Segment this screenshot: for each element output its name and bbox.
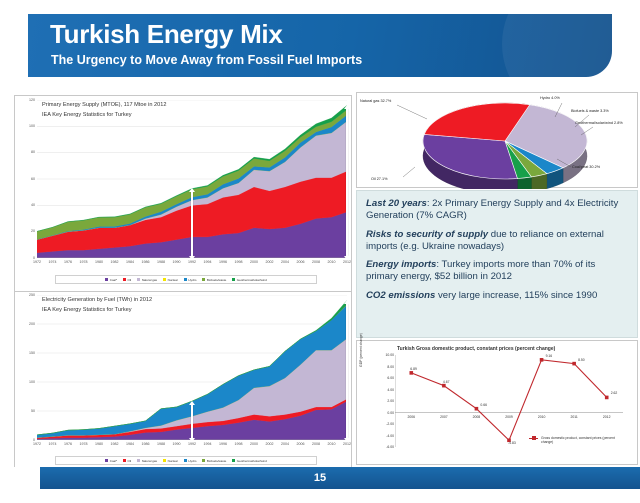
legend-item: Hydro <box>184 278 197 282</box>
legend-label: Hydro <box>188 278 196 282</box>
legend-item: Nuclear <box>163 278 178 282</box>
legend-swatch <box>202 459 205 462</box>
measurement-arrow-end <box>346 109 348 256</box>
legend-item: Oil <box>123 459 131 463</box>
key-point: CO2 emissions very large increase, 115% … <box>366 290 628 302</box>
page-title: Turkish Energy Mix <box>50 19 283 50</box>
legend-swatch <box>105 278 108 281</box>
primary-energy-supply-chart: Primary Energy Supply (MTOE), 117 Mtoe i… <box>14 95 352 293</box>
gdp-y-tick-label: 8.00 <box>387 365 394 369</box>
legend-swatch <box>163 459 166 462</box>
measurement-arrow-start <box>191 192 193 256</box>
measurement-arrow-start <box>191 405 193 438</box>
y-tick-label: 50 <box>31 409 35 413</box>
gdp-chart-legend: Gross domestic product, constant prices … <box>529 436 615 445</box>
legend-label: Nuclear <box>168 278 178 282</box>
gdp-legend-label: Gross domestic product, constant prices … <box>541 436 615 445</box>
slide: Turkish Energy Mix The Urgency to Move A… <box>0 0 640 503</box>
gdp-y-tick-label: 2.00 <box>387 399 394 403</box>
x-tick-label: 2004 <box>280 442 290 446</box>
x-tick-label: 2002 <box>265 442 275 446</box>
gdp-y-axis-label: GDP (percent change) <box>359 321 363 379</box>
primary-chart-legend: Coal*OilNatural gasNuclearHydroBiofuels/… <box>55 275 317 284</box>
gdp-x-tick-label: 2007 <box>436 415 452 419</box>
x-tick-label: 2008 <box>311 260 321 264</box>
legend-item: Natural gas <box>137 278 157 282</box>
page-subtitle: The Urgency to Move Away from Fossil Fue… <box>51 53 362 67</box>
x-tick-label: 1990 <box>172 260 182 264</box>
key-point-lead: Energy imports <box>366 259 436 270</box>
gdp-x-tick-label: 2010 <box>534 415 550 419</box>
pie-slice-label: Biofuels & waste 3.3% <box>571 109 609 113</box>
primary-y-axis: 120100806040200 <box>15 100 37 258</box>
pie-graphic: Natural gas 32.7%Hydro 4.0%Biofuels & wa… <box>357 93 639 189</box>
x-tick-label: 2012 <box>342 442 352 446</box>
legend-swatch <box>202 278 205 281</box>
y-tick-label: 250 <box>29 293 35 297</box>
legend-swatch <box>137 278 140 281</box>
x-tick-label: 1998 <box>234 260 244 264</box>
x-tick-label: 1988 <box>156 442 166 446</box>
pie-slice-label: Coal/peat 30.2% <box>572 165 600 169</box>
legend-swatch <box>184 278 187 281</box>
electricity-generation-chart: Electricity Generation by Fuel (TWh) in … <box>14 291 352 471</box>
legend-item: Biofuels/waste <box>202 459 226 463</box>
legend-label: Biofuels/waste <box>207 459 226 463</box>
x-tick-label: 1998 <box>234 442 244 446</box>
legend-label: Oil <box>128 459 132 463</box>
x-tick-label: 1984 <box>125 442 135 446</box>
legend-swatch <box>232 278 235 281</box>
legend-item: Oil <box>123 278 131 282</box>
key-point-text: very large increase, 115% since 1990 <box>438 290 597 301</box>
x-tick-label: 1972 <box>32 442 42 446</box>
pie-slice-label: Natural gas 32.7% <box>360 99 391 103</box>
gdp-x-tick-label: 2006 <box>403 415 419 419</box>
x-tick-label: 2006 <box>296 442 306 446</box>
x-tick-label: 2010 <box>327 260 337 264</box>
legend-swatch <box>105 459 108 462</box>
gdp-y-tick-label: 10.00 <box>386 353 395 357</box>
pie-slice-label: Oil 27.1% <box>371 177 387 181</box>
x-tick-label: 2004 <box>280 260 290 264</box>
y-tick-label: 40 <box>31 203 35 207</box>
y-tick-label: 0 <box>33 256 35 260</box>
gdp-y-tick-label: 4.00 <box>387 388 394 392</box>
gdp-y-tick-label: 0.00 <box>387 411 394 415</box>
legend-item: Hydro <box>184 459 197 463</box>
x-tick-label: 2008 <box>311 442 321 446</box>
y-tick-label: 120 <box>29 98 35 102</box>
legend-label: Oil <box>128 278 132 282</box>
key-points-panel: Last 20 years: 2x Primary Energy Supply … <box>356 190 638 338</box>
legend-label: Biofuels/waste <box>207 278 226 282</box>
x-tick-label: 1980 <box>94 260 104 264</box>
x-tick-label: 1974 <box>48 442 58 446</box>
x-tick-label: 1992 <box>187 442 197 446</box>
y-tick-label: 80 <box>31 150 35 154</box>
x-tick-label: 2000 <box>249 260 259 264</box>
x-tick-label: 1982 <box>110 442 120 446</box>
key-point: Energy imports: Turkey imports more than… <box>366 259 628 284</box>
x-tick-label: 1984 <box>125 260 135 264</box>
x-tick-label: 2012 <box>342 260 352 264</box>
legend-swatch <box>137 459 140 462</box>
y-tick-label: 100 <box>29 380 35 384</box>
key-point-lead: CO2 emissions <box>366 290 435 301</box>
x-tick-label: 2002 <box>265 260 275 264</box>
legend-label: Hydro <box>188 459 196 463</box>
key-point-lead: Last 20 years <box>366 198 427 209</box>
legend-swatch <box>123 459 126 462</box>
pie-slice-label: Hydro 4.0% <box>540 96 560 100</box>
x-tick-label: 1986 <box>141 442 151 446</box>
y-tick-label: 20 <box>31 229 35 233</box>
page-number: 15 <box>314 472 326 484</box>
legend-label: Coal* <box>110 278 117 282</box>
legend-item: Coal* <box>105 278 117 282</box>
legend-item: Coal* <box>105 459 117 463</box>
legend-label: Natural gas <box>142 278 157 282</box>
y-tick-label: 150 <box>29 351 35 355</box>
x-tick-label: 1996 <box>218 442 228 446</box>
legend-label: Geothermal/solar/wind <box>237 459 267 463</box>
electricity-x-axis: 1972197419761978198019821984198619881990… <box>37 441 347 451</box>
x-tick-label: 1988 <box>156 260 166 264</box>
gdp-x-tick-label: 2008 <box>468 415 484 419</box>
legend-item: Geothermal/solar/wind <box>232 459 267 463</box>
y-tick-label: 200 <box>29 322 35 326</box>
x-tick-label: 1976 <box>63 260 73 264</box>
legend-label: Nuclear <box>168 459 178 463</box>
legend-label: Coal* <box>110 459 117 463</box>
legend-swatch <box>232 459 235 462</box>
gdp-x-axis: 2006200720082009201020112012 <box>395 341 623 466</box>
legend-item: Nuclear <box>163 459 178 463</box>
legend-item: Biofuels/waste <box>202 278 226 282</box>
key-point: Risks to security of supply due to relia… <box>366 229 628 254</box>
x-tick-label: 2000 <box>249 442 259 446</box>
legend-swatch <box>184 459 187 462</box>
gdp-x-tick-label: 2009 <box>501 415 517 419</box>
slide-header-banner: Turkish Energy Mix The Urgency to Move A… <box>28 14 612 77</box>
x-tick-label: 1982 <box>110 260 120 264</box>
slide-footer: 15 <box>0 467 640 489</box>
gdp-y-axis: 10.008.006.004.002.000.00-2.00-4.00-6.00 <box>365 355 395 447</box>
x-tick-label: 1976 <box>63 442 73 446</box>
x-tick-label: 1994 <box>203 260 213 264</box>
y-tick-label: 100 <box>29 124 35 128</box>
key-point: Last 20 years: 2x Primary Energy Supply … <box>366 198 628 223</box>
gdp-y-tick-label: 6.00 <box>387 376 394 380</box>
y-tick-label: 60 <box>31 177 35 181</box>
gdp-y-tick-label: -2.00 <box>386 422 394 426</box>
x-tick-label: 1972 <box>32 260 42 264</box>
key-point-lead: Risks to security of supply <box>366 229 488 240</box>
x-tick-label: 1996 <box>218 260 228 264</box>
primary-x-axis: 1972197419761978198019821984198619881990… <box>37 259 347 269</box>
gdp-y-tick-label: -4.00 <box>386 434 394 438</box>
electricity-y-axis: 250200150100500 <box>15 295 37 440</box>
legend-item: Geothermal/solar/wind <box>232 278 267 282</box>
x-tick-label: 1980 <box>94 442 104 446</box>
turkish-gdp-chart: Turkish Gross domestic product, constant… <box>356 340 638 465</box>
legend-label: Natural gas <box>142 459 157 463</box>
legend-swatch <box>123 278 126 281</box>
x-tick-label: 1986 <box>141 260 151 264</box>
gdp-legend-swatch <box>529 438 538 440</box>
gdp-x-tick-label: 2011 <box>566 415 582 419</box>
legend-item: Natural gas <box>137 459 157 463</box>
x-tick-label: 1992 <box>187 260 197 264</box>
y-tick-label: 0 <box>33 438 35 442</box>
pie-slice-label: Geothermal/solar/wind 2.8% <box>575 121 631 125</box>
x-tick-label: 1978 <box>79 442 89 446</box>
energy-shares-pie-chart: Natural gas 32.7%Hydro 4.0%Biofuels & wa… <box>356 92 638 188</box>
x-tick-label: 1990 <box>172 442 182 446</box>
electricity-chart-legend: Coal*OilNatural gasNuclearHydroBiofuels/… <box>55 456 317 465</box>
gdp-x-tick-label: 2012 <box>599 415 615 419</box>
x-tick-label: 1978 <box>79 260 89 264</box>
x-tick-label: 2010 <box>327 442 337 446</box>
x-tick-label: 1994 <box>203 442 213 446</box>
measurement-arrow-end <box>346 304 348 438</box>
x-tick-label: 2006 <box>296 260 306 264</box>
gdp-y-tick-label: -6.00 <box>386 445 394 449</box>
legend-swatch <box>163 278 166 281</box>
legend-label: Geothermal/solar/wind <box>237 278 267 282</box>
x-tick-label: 1974 <box>48 260 58 264</box>
